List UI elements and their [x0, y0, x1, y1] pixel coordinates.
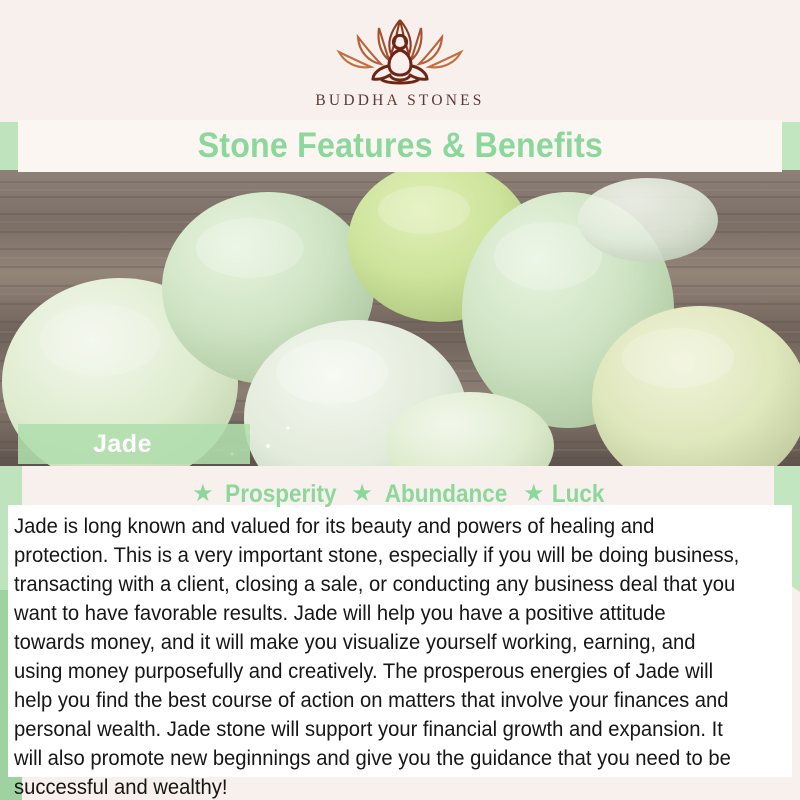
- description-text: Jade is long known and valued for its be…: [14, 512, 740, 800]
- brand-name: BUDDHA STONES: [0, 92, 800, 110]
- stone-photo: [0, 170, 800, 466]
- star-icon: ★: [523, 482, 545, 506]
- infographic-card: BUDDHA STONES Stone Features & Benefits …: [0, 0, 800, 800]
- benefit-item: ★ Abundance: [351, 480, 514, 509]
- section-title-bar: Stone Features & Benefits: [18, 120, 782, 172]
- page-title: Stone Features & Benefits: [197, 126, 602, 166]
- stone-name-badge: Jade: [18, 424, 250, 464]
- stone-name-label: Jade: [93, 430, 152, 459]
- benefit-label: Prosperity: [225, 480, 336, 509]
- benefit-label: Luck: [552, 480, 605, 509]
- description-block: Jade is long known and valued for its be…: [14, 512, 786, 800]
- star-icon: ★: [351, 482, 373, 506]
- benefit-label: Abundance: [385, 480, 508, 509]
- benefit-item: ★ Luck: [523, 480, 608, 509]
- benefits-row: ★ Prosperity ★ Abundance ★ Luck: [0, 478, 800, 510]
- benefit-item: ★ Prosperity: [192, 480, 342, 509]
- star-icon: ★: [192, 482, 214, 506]
- brand-header: BUDDHA STONES: [0, 0, 800, 122]
- lotus-meditation-icon: [0, 14, 800, 88]
